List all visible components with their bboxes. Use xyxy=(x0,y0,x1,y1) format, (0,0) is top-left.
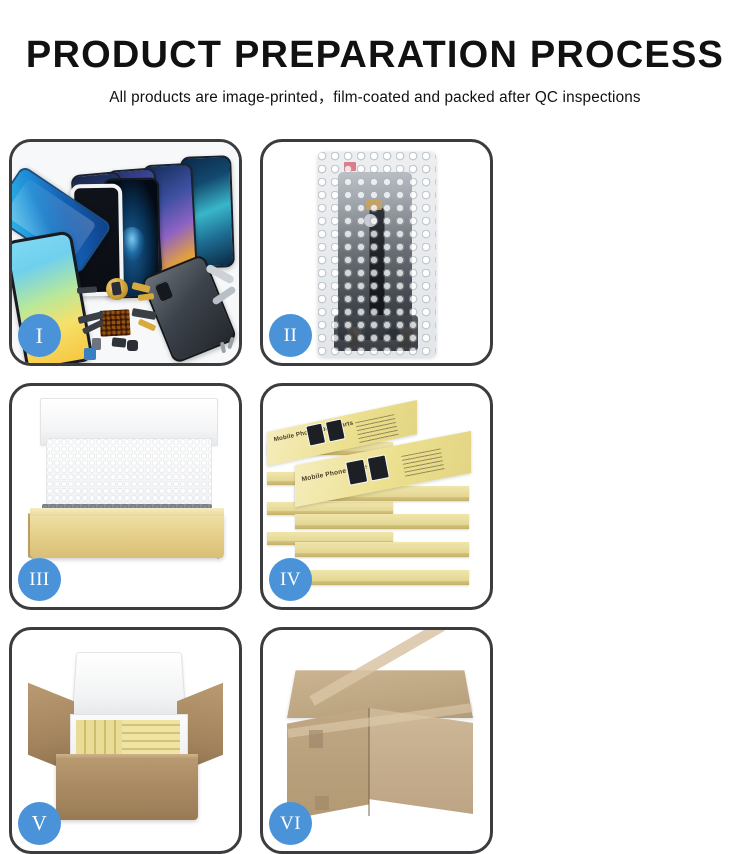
camera-module-part xyxy=(112,337,127,347)
step-badge-6: VI xyxy=(269,802,312,845)
vibrator-motor-part xyxy=(127,340,138,351)
process-step-5: V xyxy=(9,627,242,854)
step-badge-1: I xyxy=(18,314,61,357)
process-step-6: VI xyxy=(260,627,493,854)
process-step-4: Mobile Phone Spare Parts Mobile Phone Sp… xyxy=(260,383,493,610)
connector-cluster xyxy=(334,315,418,351)
step-badge-3: III xyxy=(18,558,61,601)
page-title: PRODUCT PREPARATION PROCESS xyxy=(0,36,750,76)
box-thumbnail xyxy=(345,459,368,486)
process-step-grid: I II III xyxy=(9,139,743,854)
stacked-box xyxy=(295,570,469,585)
page-header: PRODUCT PREPARATION PROCESS All products… xyxy=(0,0,750,107)
carton-flap-mark xyxy=(315,796,329,810)
page-subtitle: All products are image-printed，film-coat… xyxy=(0,85,750,107)
styrofoam-lid xyxy=(71,652,186,719)
step-badge-5: V xyxy=(18,802,61,845)
process-step-1: I xyxy=(9,139,242,366)
step-badge-4: IV xyxy=(269,558,312,601)
process-step-2: II xyxy=(260,139,493,366)
logic-board-chip xyxy=(99,309,130,337)
step-badge-2: II xyxy=(269,314,312,357)
small-board-part xyxy=(84,348,96,360)
process-step-3: III xyxy=(9,383,242,610)
gold-connector xyxy=(366,200,382,210)
box-thumbnail xyxy=(305,423,326,447)
red-tab-sticker xyxy=(344,162,356,171)
kraft-box-tray xyxy=(30,514,224,558)
round-connector xyxy=(364,214,377,227)
carton-front-panel xyxy=(56,758,198,820)
carton-flap-mark xyxy=(309,730,323,748)
stacked-box xyxy=(295,542,469,557)
stacked-box xyxy=(295,514,469,529)
bubble-wrap-bag xyxy=(318,152,436,357)
